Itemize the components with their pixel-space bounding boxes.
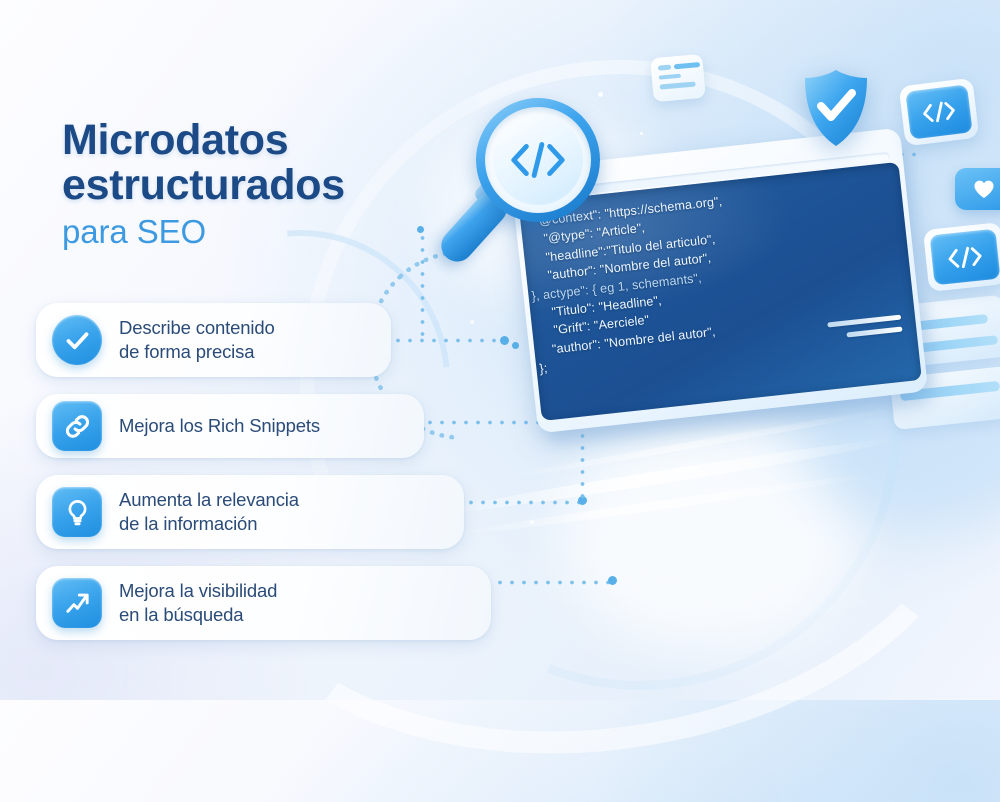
link-icon — [52, 401, 102, 451]
feature-card-label: Mejora la visibilidad en la búsqueda — [119, 579, 277, 626]
doc-line — [660, 81, 696, 89]
connector-line-4 — [494, 580, 614, 585]
connector-node-1 — [500, 336, 509, 345]
magnifier-icon — [476, 98, 600, 222]
feature-card-label: Mejora los Rich Snippets — [119, 414, 320, 438]
arrow-growth-icon — [52, 578, 102, 628]
decor-sparkle — [598, 92, 603, 97]
feature-card-list: Describe contenido de forma precisa Mejo… — [36, 303, 491, 657]
feature-card-label-line-2: en la búsqueda — [119, 603, 277, 627]
feature-card-label: Describe contenido de forma precisa — [119, 316, 275, 363]
feature-card-label-line-1: Describe contenido — [119, 316, 275, 340]
code-brackets-icon — [507, 137, 569, 183]
feature-card-label-line-2: de forma precisa — [119, 340, 275, 364]
shield-check-icon — [800, 68, 872, 148]
feature-card-rich-snippets[interactable]: Mejora los Rich Snippets — [36, 394, 424, 458]
feature-card-relevance[interactable]: Aumenta la relevancia de la información — [36, 475, 464, 549]
lightbulb-icon — [52, 487, 102, 537]
feature-card-label-line-1: Mejora la visibilidad — [119, 579, 277, 603]
magnifier-lens — [493, 115, 583, 205]
decor-sparkle — [530, 520, 534, 524]
decor-ray-1 — [432, 433, 898, 519]
feature-card-label: Aumenta la relevancia de la información — [119, 488, 299, 535]
page-title: Microdatos estructurados para SEO — [62, 118, 462, 255]
code-tile-right — [923, 222, 1000, 292]
placeholder-bar — [846, 327, 902, 338]
title-line-2: estructurados — [62, 163, 462, 208]
feature-card-label-line-1: Mejora los Rich Snippets — [119, 414, 320, 438]
feature-card-label-line-2: de la información — [119, 512, 299, 536]
code-tile-top-inner — [905, 84, 972, 139]
connector-node-4 — [608, 576, 617, 585]
feature-card-visibility[interactable]: Mejora la visibilidad en la búsqueda — [36, 566, 491, 640]
feature-card-label-line-1: Aumenta la relevancia — [119, 488, 299, 512]
code-tile-right-inner — [930, 229, 1000, 286]
code-tile-top — [899, 78, 980, 147]
code-brackets-icon — [919, 98, 960, 126]
check-circle-icon — [52, 315, 102, 365]
doc-line — [674, 62, 700, 69]
decor-sparkle — [700, 470, 706, 476]
decor-ray-2 — [456, 471, 873, 538]
doc-line — [659, 73, 681, 79]
document-lines-icon — [650, 54, 706, 102]
doc-line — [658, 65, 671, 71]
feature-card-describe-content[interactable]: Describe contenido de forma precisa — [36, 303, 391, 377]
title-subtitle: para SEO — [62, 210, 462, 255]
title-line-1: Microdatos — [62, 118, 462, 163]
code-brackets-icon — [944, 242, 986, 271]
connector-node-3 — [578, 496, 587, 505]
decor-sparkle — [640, 132, 643, 135]
heart-icon — [955, 168, 1000, 210]
decor-glow-1 — [560, 420, 860, 650]
connector-node-2 — [512, 342, 519, 349]
